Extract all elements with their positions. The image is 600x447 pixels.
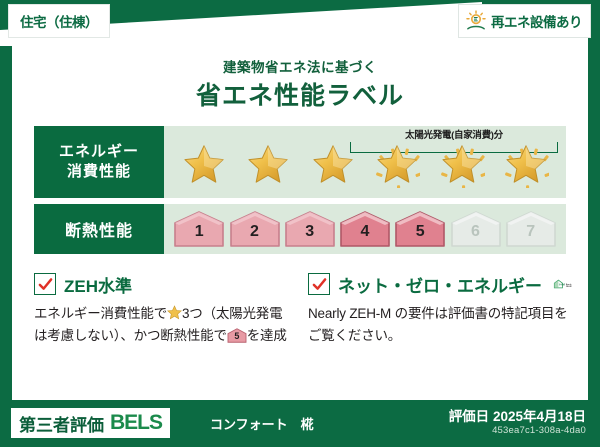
insulation-level-badge: 7 — [505, 210, 557, 248]
zeh-standard-title: ZEH水準 — [64, 272, 132, 297]
renewable-badge-label: 再エネ設備あり — [491, 11, 582, 31]
net-zero-energy-body: Nearly ZEH-M の要件は評価書の特記項目をご覧ください。 — [308, 303, 576, 347]
zeh-body-part3: は考慮しない）、かつ断熱性能で — [34, 328, 227, 343]
insulation-levels-area: 1234567 — [164, 204, 566, 254]
insulation-level-number: 5 — [416, 224, 425, 248]
zeh-m-house-logo-icon: H-M Nearly ZEH-M — [552, 271, 576, 297]
insulation-level-badge: 4 — [339, 210, 391, 248]
star-filled — [302, 138, 364, 194]
insulation-level-badge: 5 — [394, 210, 446, 248]
bels-certification-chip: 第三者評価 BELS — [11, 408, 170, 438]
building-name: コンフォート 椛 — [210, 414, 314, 433]
energy-performance-label: 住宅（住棟） 再エネ設備あり 建築物省エネ法に基づく 省エネ性能ラベル エネルギ… — [0, 0, 600, 447]
zeh-body-part4: を達成 — [247, 328, 287, 343]
star-filled — [237, 138, 299, 194]
star-rating — [164, 137, 566, 195]
zeh-body-part2: 3つ（太陽光発電 — [182, 306, 282, 321]
inline-insulation-badge: 5 — [227, 328, 247, 343]
energy-label-line1: エネルギー — [59, 142, 139, 162]
svg-text:H-M: H-M — [559, 283, 565, 287]
insulation-performance-row: 断熱性能 1234567 — [34, 204, 566, 254]
star-solar — [366, 138, 428, 194]
title-subtitle: 建築物省エネ法に基づく — [12, 56, 588, 76]
insulation-performance-label: 断熱性能 — [34, 204, 164, 254]
building-type-chip: 住宅（住棟） — [8, 4, 110, 38]
insulation-label-text: 断熱性能 — [65, 217, 133, 241]
insulation-level-number: 2 — [250, 224, 259, 248]
page-title: 省エネ性能ラベル — [12, 76, 588, 112]
net-zero-energy-title: ネット・ゼロ・エネルギー — [338, 272, 542, 297]
zeh-standard-header: ZEH水準 — [34, 272, 302, 296]
star-icon — [503, 144, 549, 188]
net-zero-energy-checkbox[interactable] — [308, 273, 330, 295]
insulation-level-number: 4 — [361, 224, 370, 248]
energy-stars-area: 太陽光発電(自家消費)分 — [164, 126, 566, 198]
star-solar — [431, 138, 493, 194]
label-card: 建築物省エネ法に基づく 省エネ性能ラベル エネルギー 消費性能 太陽光発電(自家… — [12, 34, 588, 400]
insulation-level-badge: 2 — [229, 210, 281, 248]
energy-label-line2: 消費性能 — [67, 162, 131, 182]
renewable-equipment-badge: 再エネ設備あり — [458, 4, 591, 38]
svg-text:ZEH-M: ZEH-M — [566, 286, 572, 288]
check-icon — [312, 277, 327, 292]
star-filled — [173, 138, 235, 194]
insulation-level-list: 1234567 — [164, 204, 566, 254]
insulation-level-badge: 3 — [284, 210, 336, 248]
evaluation-id: 453ea7c1-308a-4da0 — [492, 425, 586, 436]
net-zero-energy-header: ネット・ゼロ・エネルギー H-M Nearly ZEH-M — [308, 272, 576, 296]
zeh-standard-panel: ZEH水準 エネルギー消費性能で3つ（太陽光発電 は考慮しない）、かつ断熱性能で… — [34, 272, 302, 347]
energy-performance-label: エネルギー 消費性能 — [34, 126, 164, 198]
star-icon — [245, 144, 291, 188]
energy-performance-row: エネルギー 消費性能 太陽光発電(自家消費)分 — [34, 126, 566, 198]
insulation-level-number: 6 — [471, 224, 480, 248]
check-icon — [38, 277, 53, 292]
zeh-standard-body: エネルギー消費性能で3つ（太陽光発電 は考慮しない）、かつ断熱性能で5を達成 — [34, 303, 302, 347]
bels-jp-label: 第三者評価 — [19, 411, 104, 436]
sun-solar-icon — [465, 10, 487, 32]
insulation-level-badge: 6 — [450, 210, 502, 248]
building-type-label: 住宅（住棟） — [20, 11, 98, 31]
bels-en-label: BELS — [110, 411, 162, 435]
inline-insulation-value: 5 — [227, 328, 247, 343]
net-zero-energy-panel: ネット・ゼロ・エネルギー H-M Nearly ZEH-M Nearly ZEH… — [308, 272, 576, 347]
zeh-standard-checkbox[interactable] — [34, 273, 56, 295]
insulation-level-number: 7 — [526, 224, 535, 248]
insulation-level-number: 3 — [305, 224, 314, 248]
star-icon — [310, 144, 356, 188]
insulation-level-badge: 1 — [173, 210, 225, 248]
footer-bar: 第三者評価 BELS コンフォート 椛 評価日 2025年4月18日 453ea… — [0, 400, 600, 447]
insulation-level-number: 1 — [195, 224, 204, 248]
inline-star-icon — [167, 305, 182, 320]
zeh-body-part1: エネルギー消費性能で — [34, 306, 167, 321]
star-solar — [495, 138, 557, 194]
star-icon — [374, 144, 420, 188]
star-icon — [181, 144, 227, 188]
star-icon — [439, 144, 485, 188]
evaluation-date: 評価日 2025年4月18日 — [449, 405, 586, 425]
